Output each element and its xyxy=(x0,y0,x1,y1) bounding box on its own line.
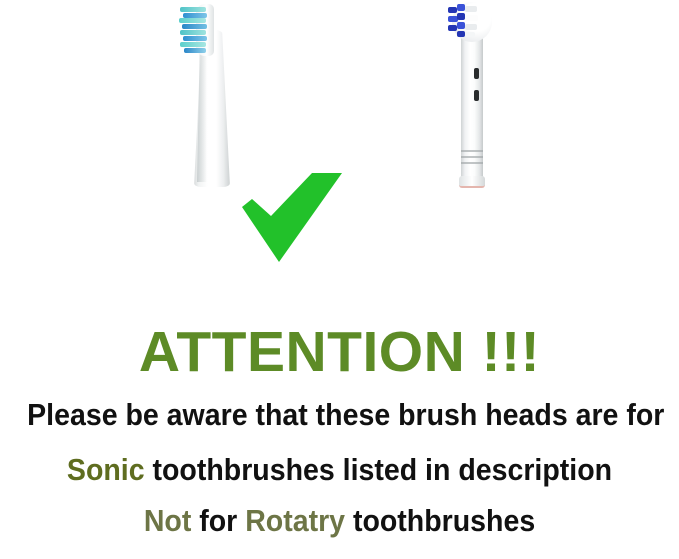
rotary-brush-shaft xyxy=(461,22,483,185)
rotary-shaft-slot xyxy=(474,90,479,101)
approved-product-cell xyxy=(70,0,350,300)
rotary-bristle-tufts xyxy=(448,4,482,40)
rotary-brush-collar xyxy=(459,176,485,188)
rejected-product-cell xyxy=(330,0,610,300)
rotatry-highlight-word: Rotatry xyxy=(245,503,345,538)
message-line-2: Sonic toothbrushes listed in description xyxy=(27,452,652,488)
product-comparison-row xyxy=(0,0,679,300)
rotary-shaft-rib xyxy=(461,156,483,158)
message-line-2-rest: toothbrushes listed in description xyxy=(145,452,612,487)
rotary-shaft-slot xyxy=(474,68,479,79)
sonic-brush-head-image xyxy=(170,2,250,187)
rotary-brush-head-image xyxy=(430,0,510,200)
attention-message-block: ATTENTION !!! Please be aware that these… xyxy=(0,300,679,559)
rotary-shaft-rib xyxy=(461,162,483,164)
product-attention-notice: ATTENTION !!! Please be aware that these… xyxy=(0,0,679,559)
sonic-highlight-word: Sonic xyxy=(67,452,145,487)
message-line-3-rest: toothbrushes xyxy=(345,503,535,538)
not-highlight-word: Not xyxy=(144,503,192,538)
attention-heading: ATTENTION !!! xyxy=(0,322,679,382)
message-line-3: Not for Rotatry toothbrushes xyxy=(27,503,652,539)
message-line-3-for: for xyxy=(191,503,245,538)
rotary-shaft-rib xyxy=(461,150,483,152)
message-line-1: Please be aware that these brush heads a… xyxy=(27,397,652,433)
sonic-bristle-tufts xyxy=(178,5,214,55)
